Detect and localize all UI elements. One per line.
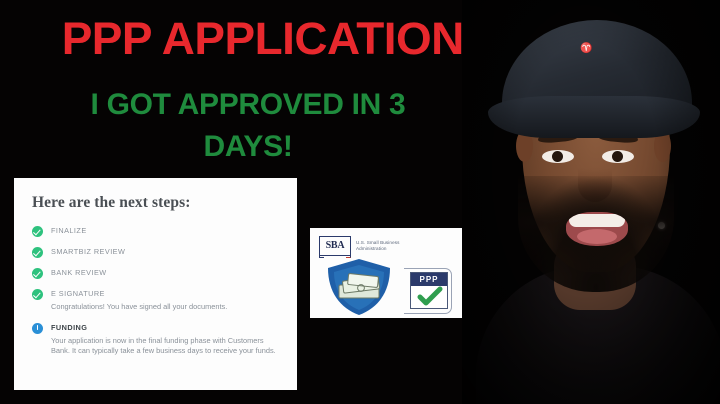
check-circle-icon (32, 247, 43, 258)
step-item-funding: FUNDING Your application is now in the f… (32, 322, 283, 357)
info-circle-icon (32, 323, 43, 334)
crown-emblem-icon: ♈ (574, 44, 598, 54)
subtitle-line-2: DAYS! (18, 126, 478, 168)
step-description: Your application is now in the final fun… (51, 336, 283, 357)
sba-logo-text: SBA (320, 240, 350, 251)
eye-left (542, 150, 574, 163)
presenter-photo: ♈ (462, 0, 720, 404)
ppp-check-area (411, 286, 447, 308)
eye-right (602, 150, 634, 163)
page-subtitle: I GOT APPROVED IN 3 DAYS! (18, 84, 478, 168)
mouth (566, 212, 628, 246)
step-label: BANK REVIEW (51, 267, 283, 278)
step-item-finalize: FINALIZE (32, 225, 283, 237)
sba-ppp-graphic-card: SBA U.S. Small Business Administration (310, 228, 478, 318)
sba-logo-icon: SBA (320, 236, 350, 256)
ppp-approval-card: PPP (410, 272, 448, 309)
tongue (577, 229, 617, 244)
thumbnail-canvas: PPP APPLICATION UPDATE I GOT APPROVED IN… (0, 0, 720, 404)
teeth (569, 214, 625, 227)
shield-money-icon (326, 258, 392, 316)
ppp-label: PPP (411, 273, 447, 286)
check-circle-icon (32, 289, 43, 300)
step-item-e-signature: E SIGNATURE Congratulations! You have si… (32, 288, 283, 313)
step-description: Congratulations! You have signed all you… (51, 302, 283, 313)
sba-agency-name: U.S. Small Business Administration (356, 240, 400, 252)
next-steps-card: Here are the next steps: FINALIZE SMARTB… (14, 178, 297, 390)
step-item-smartbiz-review: SMARTBIZ REVIEW (32, 246, 283, 258)
check-circle-icon (32, 226, 43, 237)
step-item-bank-review: BANK REVIEW (32, 267, 283, 279)
check-icon (411, 286, 449, 308)
subtitle-line-1: I GOT APPROVED IN 3 (18, 84, 478, 126)
agency-line-2: Administration (356, 246, 400, 252)
step-label: SMARTBIZ REVIEW (51, 246, 283, 257)
cap-brim (488, 96, 700, 138)
step-label: FINALIZE (51, 225, 283, 236)
sba-logo: SBA U.S. Small Business Administration (320, 236, 400, 256)
check-circle-icon (32, 268, 43, 279)
step-label: E SIGNATURE (51, 288, 283, 299)
steps-heading: Here are the next steps: (32, 194, 283, 212)
step-label: FUNDING (51, 322, 283, 333)
